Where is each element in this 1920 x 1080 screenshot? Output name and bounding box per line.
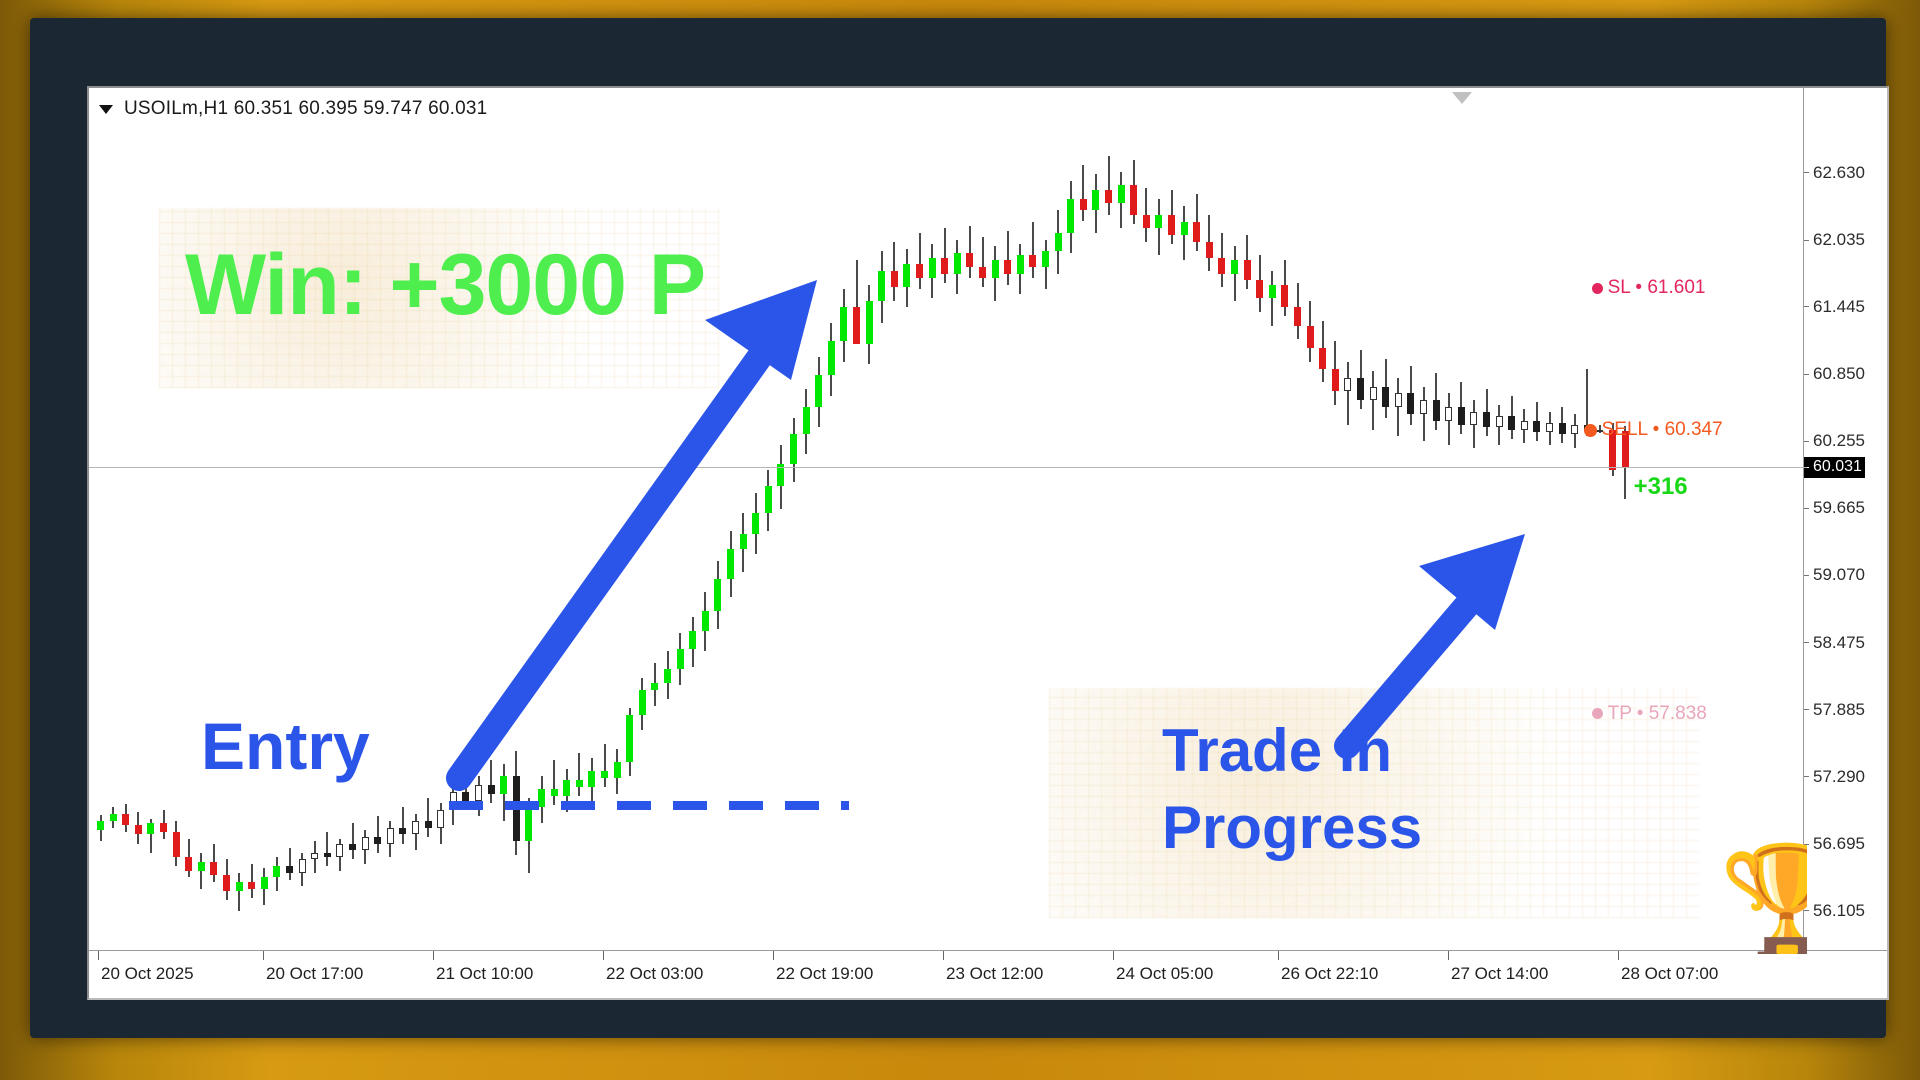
- tp-dot-icon: [1592, 708, 1603, 719]
- candle-body: [1281, 285, 1288, 308]
- time-tick-label: 24 Oct 05:00: [1116, 964, 1213, 984]
- candle-body: [1483, 412, 1490, 428]
- candlestick: [866, 88, 873, 954]
- candle-body: [1307, 326, 1314, 349]
- candlestick: [1017, 88, 1024, 954]
- current-price-line: [89, 467, 1807, 468]
- candlestick: [488, 88, 495, 954]
- candle-body: [198, 862, 205, 871]
- candle-body: [1332, 369, 1339, 392]
- price-tick-label: 57.885: [1813, 700, 1865, 720]
- candlestick: [122, 88, 129, 954]
- candlestick: [941, 88, 948, 954]
- candlestick: [399, 88, 406, 954]
- candlestick: [387, 88, 394, 954]
- candle-body: [1193, 222, 1200, 242]
- candle-body: [966, 253, 973, 267]
- candle-body: [387, 828, 394, 844]
- candlestick: [248, 88, 255, 954]
- candle-body: [1571, 425, 1578, 434]
- candlestick: [261, 88, 268, 954]
- candlestick: [777, 88, 784, 954]
- candle-body: [941, 258, 948, 274]
- candle-body: [349, 844, 356, 851]
- candle-body: [1055, 233, 1062, 251]
- candle-body: [1496, 416, 1503, 427]
- candle-body: [563, 780, 570, 796]
- price-tick: 56.695: [1804, 835, 1865, 853]
- candle-body: [462, 792, 469, 801]
- candlestick: [677, 88, 684, 954]
- candle-body: [828, 341, 835, 375]
- price-tick: 61.445: [1804, 298, 1865, 316]
- time-tick-mark: [1113, 951, 1114, 960]
- candlestick: [299, 88, 306, 954]
- candle-body: [336, 844, 343, 858]
- candle-body: [248, 882, 255, 889]
- candle-body: [740, 534, 747, 550]
- time-tick-label: 28 Oct 07:00: [1621, 964, 1718, 984]
- candlestick: [765, 88, 772, 954]
- candle-wick: [919, 233, 921, 290]
- candle-wick: [1234, 246, 1236, 300]
- candle-body: [1244, 260, 1251, 280]
- candle-body: [1508, 416, 1515, 430]
- candlestick: [185, 88, 192, 954]
- candlestick: [538, 88, 545, 954]
- candlestick: [450, 88, 457, 954]
- candlestick: [639, 88, 646, 954]
- candlestick: [362, 88, 369, 954]
- candle-wick: [200, 853, 202, 889]
- price-tick-label: 59.070: [1813, 565, 1865, 585]
- candle-body: [1546, 423, 1553, 432]
- candlestick: [1042, 88, 1049, 954]
- candle-body: [1181, 222, 1188, 236]
- candle-wick: [490, 760, 492, 803]
- candlestick: [1067, 88, 1074, 954]
- time-tick-mark: [1618, 951, 1619, 960]
- candle-body: [1382, 387, 1389, 407]
- candlestick: [135, 88, 142, 954]
- candlestick: [1483, 88, 1490, 954]
- price-tick-label: 56.695: [1813, 834, 1865, 854]
- price-tick: 59.070: [1804, 566, 1865, 584]
- candlestick: [853, 88, 860, 954]
- candle-body: [412, 821, 419, 835]
- candlestick: [513, 88, 520, 954]
- candle-wick: [326, 832, 328, 866]
- candlestick: [903, 88, 910, 954]
- candle-body: [639, 690, 646, 715]
- time-tick-label: 23 Oct 12:00: [946, 964, 1043, 984]
- candlestick: [1130, 88, 1137, 954]
- candlestick: [1433, 88, 1440, 954]
- candle-wick: [1082, 165, 1084, 222]
- candle-wick: [251, 864, 253, 898]
- candle-body: [614, 762, 621, 778]
- candlestick: [1571, 88, 1578, 954]
- candle-body: [1357, 378, 1364, 401]
- device-frame: USOILm,H1 60.351 60.395 59.747 60.031 SL…: [30, 18, 1886, 1038]
- candle-body: [399, 828, 406, 835]
- candle-body: [651, 683, 658, 690]
- candle-wick: [1032, 222, 1034, 279]
- chevron-down-icon[interactable]: [99, 105, 113, 114]
- candle-body: [664, 669, 671, 683]
- candlestick: [1143, 88, 1150, 954]
- candlestick: [954, 88, 961, 954]
- candle-body: [916, 264, 923, 278]
- candle-body: [122, 814, 129, 825]
- candle-body: [525, 807, 532, 841]
- candlestick: [1004, 88, 1011, 954]
- candlestick: [828, 88, 835, 954]
- price-tick: 60.255: [1804, 432, 1865, 450]
- entry-annotation-label: Entry: [201, 708, 370, 784]
- candle-body: [1458, 407, 1465, 425]
- trade-progress-line1: Trade In: [1162, 713, 1422, 790]
- candlestick: [475, 88, 482, 954]
- candle-body: [1521, 421, 1528, 430]
- candlestick: [236, 88, 243, 954]
- trophy-icon: 🏆: [1719, 848, 1807, 954]
- time-tick-label: 26 Oct 22:10: [1281, 964, 1378, 984]
- sl-dot-icon: [1592, 283, 1603, 294]
- price-tick-label: 60.850: [1813, 364, 1865, 384]
- time-tick-label: 22 Oct 19:00: [776, 964, 873, 984]
- candlestick: [664, 88, 671, 954]
- win-annotation-label: Win: +3000 P: [185, 236, 705, 335]
- candle-body: [903, 264, 910, 287]
- price-tick: 60.850: [1804, 365, 1865, 383]
- candle-wick: [352, 823, 354, 859]
- sell-dot-icon: [1584, 424, 1597, 437]
- candlestick: [740, 88, 747, 954]
- candle-body: [1017, 255, 1024, 273]
- candlestick: [1622, 88, 1629, 954]
- candle-body: [160, 823, 167, 832]
- price-tick-label: 62.630: [1813, 163, 1865, 183]
- candle-body: [992, 260, 999, 278]
- candlestick: [1596, 88, 1603, 954]
- candle-body: [97, 821, 104, 830]
- candlestick: [425, 88, 432, 954]
- candle-wick: [1347, 362, 1349, 425]
- candle-body: [1105, 190, 1112, 204]
- candlestick: [1496, 88, 1503, 954]
- candle-wick: [1108, 156, 1110, 215]
- candlestick: [147, 88, 154, 954]
- candlestick: [374, 88, 381, 954]
- candlestick: [992, 88, 999, 954]
- candlestick: [803, 88, 810, 954]
- candlestick: [929, 88, 936, 954]
- candle-body: [1231, 260, 1238, 274]
- candlestick: [626, 88, 633, 954]
- candle-wick: [982, 237, 984, 287]
- time-tick-mark: [98, 951, 99, 960]
- floating-profit-badge: +316: [1634, 473, 1688, 501]
- candle-body: [425, 821, 432, 828]
- time-tick-mark: [433, 951, 434, 960]
- candle-body: [135, 825, 142, 834]
- candlestick: [1055, 88, 1062, 954]
- candlestick: [1458, 88, 1465, 954]
- candlestick: [1609, 88, 1616, 954]
- candle-body: [1092, 190, 1099, 210]
- candlestick: [349, 88, 356, 954]
- plot-area[interactable]: USOILm,H1 60.351 60.395 59.747 60.031 SL…: [89, 88, 1807, 954]
- sell-label: SELL • 60.347: [1602, 419, 1723, 441]
- entry-level-dashed-line: [449, 801, 849, 810]
- candlestick: [1521, 88, 1528, 954]
- candlestick: [727, 88, 734, 954]
- candle-body: [954, 253, 961, 273]
- candlestick: [223, 88, 230, 954]
- candle-wick: [238, 873, 240, 911]
- candle-wick: [969, 226, 971, 278]
- sl-label: SL • 61.601: [1608, 277, 1706, 299]
- chart-window: USOILm,H1 60.351 60.395 59.747 60.031 SL…: [87, 86, 1889, 1000]
- candlestick: [815, 88, 822, 954]
- candle-body: [1559, 423, 1566, 434]
- candlestick: [210, 88, 217, 954]
- candle-body: [891, 271, 898, 287]
- price-tick: 59.665: [1804, 499, 1865, 517]
- candlestick: [1105, 88, 1112, 954]
- candle-body: [551, 789, 558, 796]
- candle-body: [752, 513, 759, 533]
- candlestick: [1470, 88, 1477, 954]
- candlestick: [689, 88, 696, 954]
- candle-body: [803, 407, 810, 434]
- candle-body: [1445, 407, 1452, 421]
- candle-body: [677, 649, 684, 669]
- candlestick: [551, 88, 558, 954]
- candle-body: [601, 771, 608, 778]
- candle-body: [878, 271, 885, 300]
- candle-wick: [1007, 231, 1009, 285]
- candle-body: [790, 434, 797, 463]
- candlestick: [173, 88, 180, 954]
- candlestick: [311, 88, 318, 954]
- candle-body: [1130, 185, 1137, 214]
- candlestick: [1445, 88, 1452, 954]
- candle-body: [1155, 215, 1162, 229]
- candle-body: [311, 853, 318, 860]
- candle-body: [437, 810, 444, 828]
- price-tick-label: 57.290: [1813, 767, 1865, 787]
- candle-body: [1143, 215, 1150, 229]
- candle-body: [866, 301, 873, 344]
- candle-body: [626, 715, 633, 762]
- candlestick: [198, 88, 205, 954]
- candlestick: [273, 88, 280, 954]
- candle-wick: [553, 760, 555, 805]
- candle-body: [185, 857, 192, 871]
- candlestick: [891, 88, 898, 954]
- candle-wick: [402, 807, 404, 843]
- collapse-arrow-icon[interactable]: [1452, 92, 1472, 104]
- candle-body: [210, 862, 217, 876]
- candle-body: [1029, 255, 1036, 266]
- time-tick-mark: [1278, 951, 1279, 960]
- candle-body: [110, 814, 117, 821]
- candlestick: [563, 88, 570, 954]
- candlestick: [1533, 88, 1540, 954]
- candle-body: [488, 785, 495, 794]
- time-tick-mark: [773, 951, 774, 960]
- candle-body: [299, 859, 306, 873]
- candle-body: [1319, 348, 1326, 368]
- candle-wick: [377, 816, 379, 852]
- time-tick-mark: [943, 951, 944, 960]
- candle-body: [286, 866, 293, 873]
- candlestick: [601, 88, 608, 954]
- candlestick: [702, 88, 709, 954]
- candle-body: [1168, 215, 1175, 235]
- candle-wick: [289, 848, 291, 880]
- price-tick-label: 60.255: [1813, 431, 1865, 451]
- price-tick: 57.885: [1804, 701, 1865, 719]
- candle-body: [173, 832, 180, 857]
- price-tick-label: 56.105: [1813, 901, 1865, 921]
- time-tick-label: 22 Oct 03:00: [606, 964, 703, 984]
- candlestick: [97, 88, 104, 954]
- candle-body: [853, 307, 860, 343]
- candle-body: [374, 837, 381, 844]
- candlestick: [500, 88, 507, 954]
- candlestick: [1092, 88, 1099, 954]
- time-tick-mark: [603, 951, 604, 960]
- current-price-tag: 60.031: [1804, 457, 1865, 478]
- candle-body: [727, 549, 734, 578]
- candle-body: [324, 853, 331, 858]
- candle-body: [1256, 280, 1263, 298]
- order-marker-sl[interactable]: SL • 61.601: [1592, 277, 1706, 299]
- candle-body: [702, 611, 709, 631]
- candlestick: [840, 88, 847, 954]
- candle-body: [1407, 393, 1414, 413]
- order-marker-sell[interactable]: SELL • 60.347: [1584, 419, 1723, 441]
- candle-wick: [578, 753, 580, 796]
- candle-body: [929, 258, 936, 278]
- candlestick: [437, 88, 444, 954]
- candle-wick: [1397, 378, 1399, 437]
- candle-body: [1118, 185, 1125, 203]
- candlestick: [336, 88, 343, 954]
- candle-body: [236, 882, 243, 891]
- candle-body: [840, 307, 847, 341]
- candlestick: [916, 88, 923, 954]
- candle-wick: [1423, 387, 1425, 441]
- candlestick: [878, 88, 885, 954]
- candle-body: [815, 375, 822, 407]
- candle-body: [475, 785, 482, 801]
- candlestick: [1584, 88, 1591, 954]
- candlestick: [752, 88, 759, 954]
- current-price-label: 60.031: [1813, 458, 1862, 476]
- candlestick: [525, 88, 532, 954]
- candle-wick: [1271, 271, 1273, 325]
- candle-body: [1004, 260, 1011, 274]
- candlestick: [790, 88, 797, 954]
- candle-body: [1042, 251, 1049, 267]
- candle-body: [1080, 199, 1087, 210]
- candle-body: [576, 780, 583, 787]
- order-marker-tp[interactable]: TP • 57.838: [1592, 703, 1707, 725]
- candle-body: [1206, 242, 1213, 258]
- candle-body: [714, 579, 721, 611]
- time-tick-label: 21 Oct 10:00: [436, 964, 533, 984]
- candle-body: [689, 631, 696, 649]
- candle-body: [1420, 400, 1427, 414]
- candlestick: [576, 88, 583, 954]
- candlestick: [1080, 88, 1087, 954]
- time-tick-label: 20 Oct 17:00: [266, 964, 363, 984]
- candlestick: [1559, 88, 1566, 954]
- candle-wick: [604, 744, 606, 787]
- price-tick: 58.475: [1804, 634, 1865, 652]
- candle-wick: [944, 228, 946, 282]
- candlestick: [1118, 88, 1125, 954]
- candle-body: [1433, 400, 1440, 420]
- candle-body: [1470, 412, 1477, 426]
- symbol-header[interactable]: USOILm,H1 60.351 60.395 59.747 60.031: [99, 98, 487, 120]
- price-tick: 62.630: [1804, 164, 1865, 182]
- candle-body: [223, 875, 230, 891]
- candlestick: [462, 88, 469, 954]
- price-tick: 56.105: [1804, 902, 1865, 920]
- price-tick-label: 59.665: [1813, 498, 1865, 518]
- candlestick: [412, 88, 419, 954]
- price-tick-label: 62.035: [1813, 230, 1865, 250]
- candle-body: [1218, 258, 1225, 274]
- candle-body: [1533, 421, 1540, 432]
- candle-body: [500, 776, 507, 794]
- time-tick-label: 20 Oct 2025: [101, 964, 194, 984]
- candle-body: [1395, 393, 1402, 407]
- candlestick: [110, 88, 117, 954]
- candle-body: [1269, 285, 1276, 299]
- candlestick: [979, 88, 986, 954]
- candle-body: [1067, 199, 1074, 233]
- candle-body: [147, 823, 154, 834]
- candle-body: [1294, 307, 1301, 325]
- price-tick: 62.035: [1804, 231, 1865, 249]
- candlestick: [1508, 88, 1515, 954]
- price-tick-label: 61.445: [1813, 297, 1865, 317]
- trade-progress-line2: Progress: [1162, 790, 1422, 867]
- candlestick: [966, 88, 973, 954]
- price-tick: 57.290: [1804, 768, 1865, 786]
- candle-body: [273, 866, 280, 877]
- time-tick-mark: [1448, 951, 1449, 960]
- price-tick-label: 58.475: [1813, 633, 1865, 653]
- candle-body: [261, 877, 268, 888]
- candlestick: [1546, 88, 1553, 954]
- candlestick: [588, 88, 595, 954]
- time-axis[interactable]: 20 Oct 202520 Oct 17:0021 Oct 10:0022 Oc…: [89, 950, 1889, 998]
- price-axis[interactable]: 62.63062.03561.44560.85060.25559.66559.0…: [1803, 88, 1887, 954]
- candlestick: [714, 88, 721, 954]
- candle-body: [1370, 387, 1377, 401]
- symbol-ohlc-text: USOILm,H1 60.351 60.395 59.747 60.031: [124, 98, 487, 120]
- candlestick: [614, 88, 621, 954]
- candlestick: [160, 88, 167, 954]
- trade-progress-annotation-label: Trade In Progress: [1162, 713, 1422, 867]
